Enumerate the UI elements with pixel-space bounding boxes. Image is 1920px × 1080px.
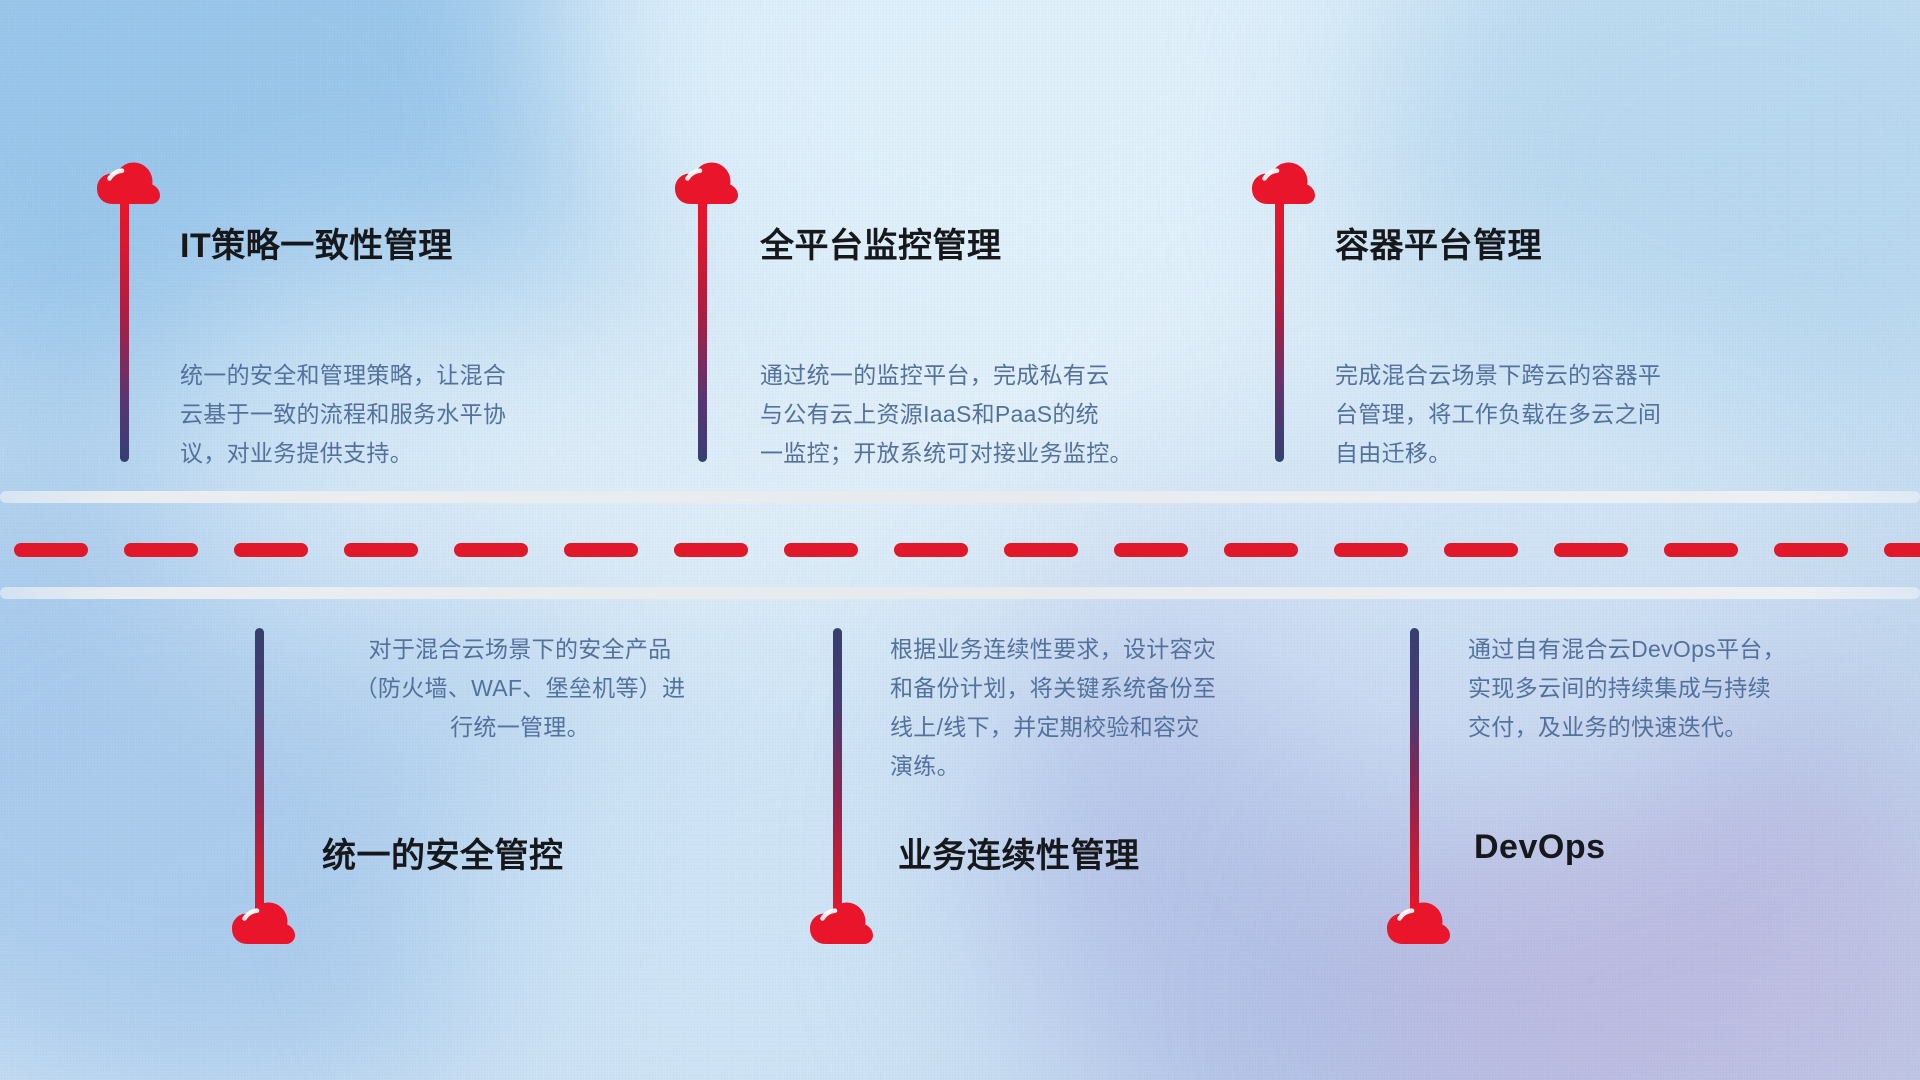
top-item-3-body: 完成混合云场景下跨云的容器平 台管理，将工作负载在多云之间 自由迁移。 xyxy=(1335,356,1775,473)
bottom-item-1-title: 统一的安全管控 xyxy=(322,828,564,877)
connector-line xyxy=(1275,200,1284,462)
dash-segment xyxy=(1444,543,1518,557)
connector-line xyxy=(255,628,264,918)
red-dashed-separator xyxy=(0,543,1920,557)
top-item-1-body: 统一的安全和管理策略，让混合 云基于一致的流程和服务水平协 议，对业务提供支持。 xyxy=(180,356,610,473)
cloud-icon xyxy=(1250,158,1316,206)
bottom-item-1-body: 对于混合云场景下的安全产品 （防火墙、WAF、堡垒机等）进 行统一管理。 xyxy=(310,630,730,747)
dash-segment xyxy=(1224,543,1298,557)
dash-segment xyxy=(1664,543,1738,557)
connector-line xyxy=(1410,628,1419,918)
cloud-icon xyxy=(1385,898,1451,946)
bottom-item-2-title: 业务连续性管理 xyxy=(898,828,1140,877)
top-item-1-title: IT策略一致性管理 xyxy=(180,218,453,267)
top-item-2-title: 全平台监控管理 xyxy=(760,218,1002,267)
connector-line xyxy=(833,628,842,918)
dash-segment xyxy=(674,543,748,557)
cloud-icon xyxy=(673,158,739,206)
top-item-3-title: 容器平台管理 xyxy=(1335,218,1542,267)
divider-bar-top xyxy=(0,491,1920,503)
dash-segment xyxy=(1114,543,1188,557)
bottom-item-2-body: 根据业务连续性要求，设计容灾 和备份计划，将关键系统备份至 线上/线下，并定期校… xyxy=(890,630,1320,786)
dash-segment xyxy=(454,543,528,557)
dash-segment xyxy=(1334,543,1408,557)
connector-line xyxy=(698,200,707,462)
dash-segment xyxy=(344,543,418,557)
dash-segment xyxy=(784,543,858,557)
dash-segment xyxy=(1774,543,1848,557)
dash-segment xyxy=(1884,543,1920,557)
dash-segment xyxy=(124,543,198,557)
divider-bar-bottom xyxy=(0,587,1920,599)
infographic-stage: IT策略一致性管理 统一的安全和管理策略，让混合 云基于一致的流程和服务水平协 … xyxy=(0,0,1920,1080)
bottom-item-3-title: DevOps xyxy=(1474,828,1606,867)
dash-segment xyxy=(234,543,308,557)
dash-segment xyxy=(14,543,88,557)
cloud-icon xyxy=(95,158,161,206)
dash-segment xyxy=(1004,543,1078,557)
dash-segment xyxy=(894,543,968,557)
dash-segment xyxy=(1554,543,1628,557)
cloud-icon xyxy=(808,898,874,946)
cloud-icon xyxy=(230,898,296,946)
top-item-2-body: 通过统一的监控平台，完成私有云 与公有云上资源IaaS和PaaS的统 一监控；开… xyxy=(760,356,1210,473)
bottom-item-3-body: 通过自有混合云DevOps平台， 实现多云间的持续集成与持续 交付，及业务的快速… xyxy=(1468,630,1898,747)
connector-line xyxy=(120,200,129,462)
dash-segment xyxy=(564,543,638,557)
